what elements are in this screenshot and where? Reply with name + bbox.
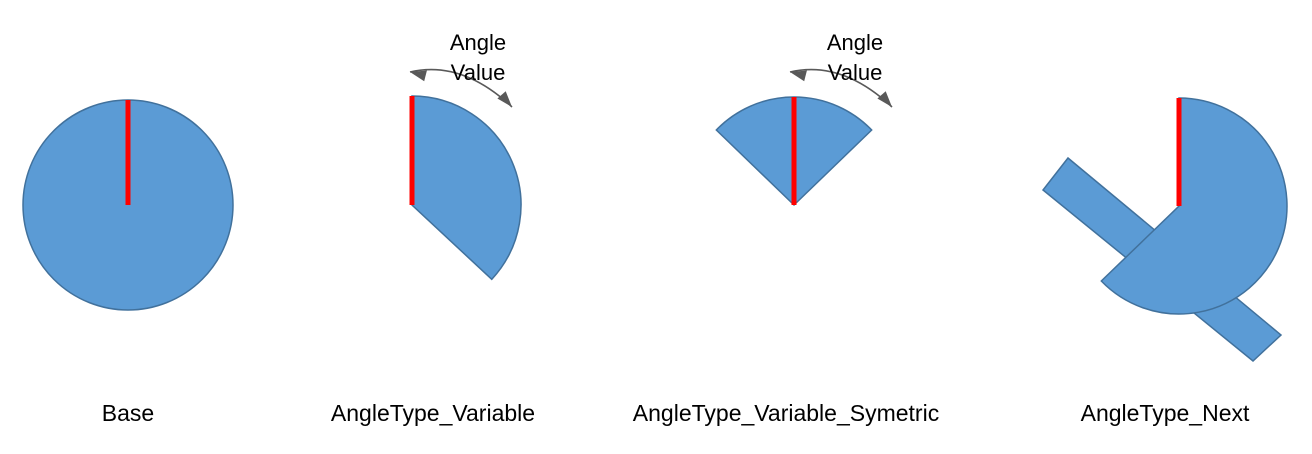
figure-base: Base [23,100,233,426]
shapes-diagram: BaseAngleValueAngleType_VariableAngleVal… [0,0,1312,454]
figure-angletype-next: AngleType_Next [1043,98,1287,426]
shape-caption-angletype-next: AngleType_Next [1081,400,1250,426]
shape-caption-angletype-variable: AngleType_Variable [331,400,535,426]
shape-caption-angletype-variable-symetric: AngleType_Variable_Symetric [633,400,939,426]
diagram-canvas: BaseAngleValueAngleType_VariableAngleVal… [0,0,1312,454]
shape-wedge-angletype-variable [412,96,521,279]
figure-angletype-variable-symetric: AngleValueAngleType_Variable_Symetric [633,30,939,426]
angle-annotation-line1-angletype-variable: Angle [450,30,506,55]
shape-wedge-angletype-next [1101,98,1287,314]
angle-arrow-head-start-angletype-variable [410,71,427,82]
shape-caption-base: Base [102,400,154,426]
figure-angletype-variable: AngleValueAngleType_Variable [331,30,535,426]
angle-arrow-head-end-angletype-variable-symetric [877,91,892,107]
angle-annotation-line2-angletype-variable: Value [451,60,506,85]
angle-arrow-head-start-angletype-variable-symetric [790,71,807,82]
angle-annotation-line1-angletype-variable-symetric: Angle [827,30,883,55]
angle-annotation-line2-angletype-variable-symetric: Value [828,60,883,85]
angle-arrow-head-end-angletype-variable [497,91,512,107]
